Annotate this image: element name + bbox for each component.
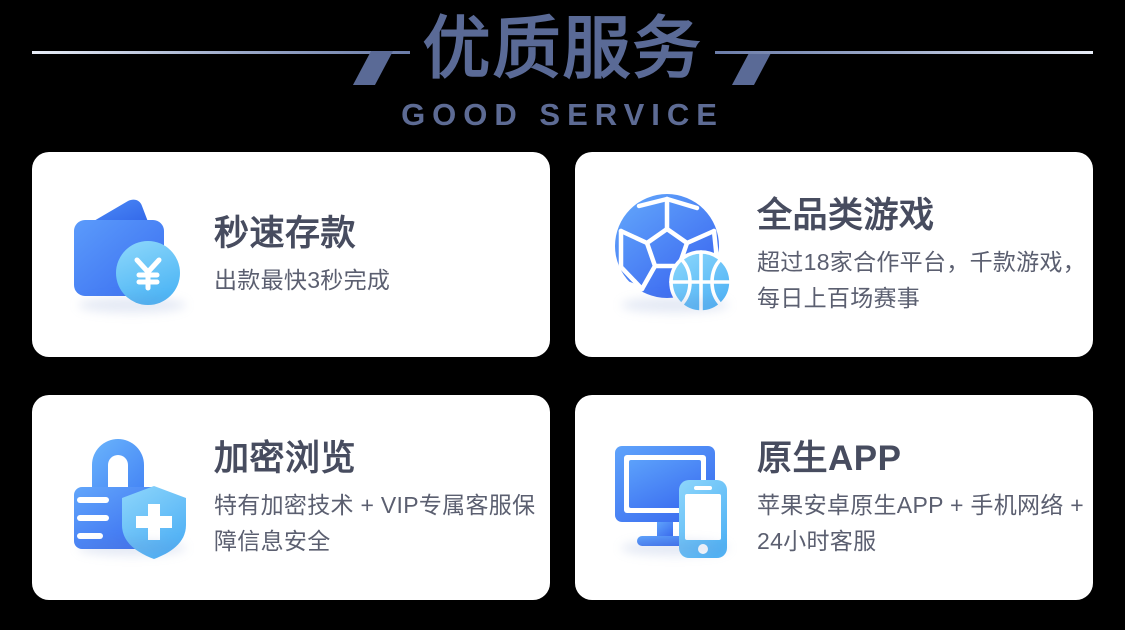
soccer-ball-icon [609, 189, 741, 321]
feature-card-deposit[interactable]: 秒速存款 出款最快3秒完成 [32, 152, 550, 357]
card-description: 出款最快3秒完成 [214, 262, 544, 298]
icon-shadow [621, 297, 729, 313]
feature-card-grid: 秒速存款 出款最快3秒完成 [32, 152, 1093, 600]
card-description: 特有加密技术 + VIP专属客服保障信息安全 [214, 487, 544, 559]
card-title: 原生APP [757, 437, 1093, 481]
wallet-icon [66, 189, 198, 321]
feature-card-encryption[interactable]: 加密浏览 特有加密技术 + VIP专属客服保障信息安全 [32, 395, 550, 600]
card-text-block: 全品类游戏 超过18家合作平台，千款游戏，每日上百场赛事 [757, 194, 1093, 316]
card-title: 秒速存款 [214, 212, 550, 256]
icon-shadow [621, 540, 729, 556]
card-text-block: 秒速存款 出款最快3秒完成 [214, 212, 550, 298]
page-subtitle: GOOD SERVICE [0, 96, 1125, 134]
card-description: 苹果安卓原生APP + 手机网络 + 24小时客服 [757, 487, 1087, 559]
card-title: 加密浏览 [214, 437, 550, 481]
icon-shadow [78, 297, 186, 313]
lock-shield-icon [66, 432, 198, 564]
card-description: 超过18家合作平台，千款游戏，每日上百场赛事 [757, 244, 1087, 316]
card-text-block: 原生APP 苹果安卓原生APP + 手机网络 + 24小时客服 [757, 437, 1093, 559]
icon-shadow [78, 540, 186, 556]
page-header: 优质服务 GOOD SERVICE [0, 0, 1125, 150]
feature-card-games[interactable]: 全品类游戏 超过18家合作平台，千款游戏，每日上百场赛事 [575, 152, 1093, 357]
monitor-phone-icon [609, 432, 741, 564]
card-text-block: 加密浏览 特有加密技术 + VIP专属客服保障信息安全 [214, 437, 550, 559]
page-title: 优质服务 [0, 4, 1125, 94]
card-title: 全品类游戏 [757, 194, 1093, 238]
feature-card-native-app[interactable]: 原生APP 苹果安卓原生APP + 手机网络 + 24小时客服 [575, 395, 1093, 600]
